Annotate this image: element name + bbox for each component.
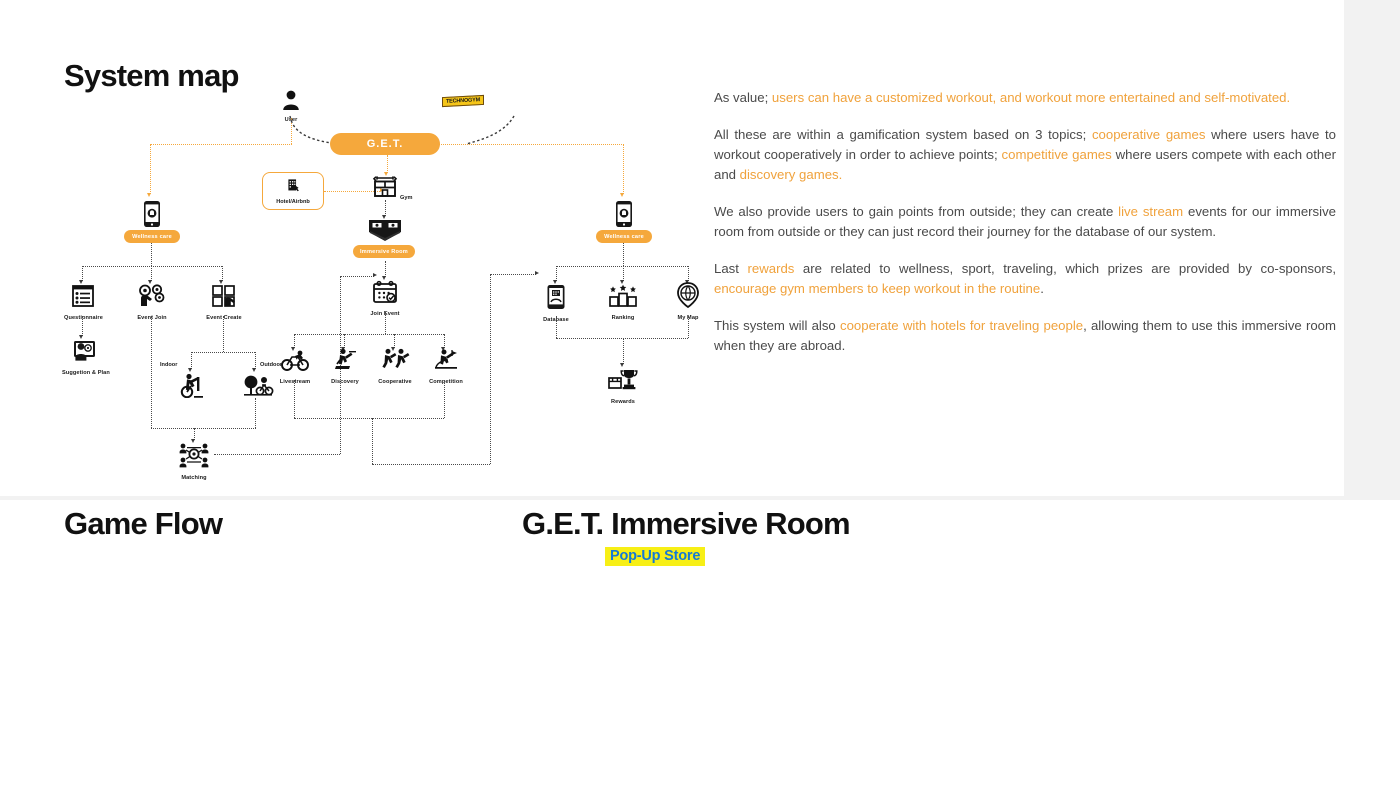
paragraph-livestream: We also provide users to gain points fro… — [714, 202, 1336, 242]
conn-immersive-joinevent — [385, 261, 386, 277]
rewards-trophy-icon — [603, 368, 643, 397]
body-text: are related to wellness, sport, travelin… — [794, 261, 1336, 276]
node-cooperative-label: Cooperative — [375, 379, 415, 385]
event-join-icon — [132, 284, 172, 313]
node-ranking: Ranking — [605, 284, 641, 321]
technogym-logo: TECHNOGYM — [442, 95, 484, 107]
conn-rewards-bus — [556, 338, 688, 339]
arrow-outdoor — [252, 368, 256, 372]
conn-wr-bus — [556, 266, 688, 267]
arrow-wellness-right — [620, 193, 624, 197]
questionnaire-icon — [64, 284, 102, 313]
node-hotel-airbnb: Hotel/Airbnb — [262, 172, 324, 210]
node-suggestion-plan-label: Suggetion & Plan — [62, 370, 104, 376]
phone-wellness-icon — [138, 200, 166, 233]
node-matching-label: Matching — [174, 475, 214, 481]
conn-db-down — [556, 316, 557, 338]
conn-je-b3 — [394, 334, 395, 348]
conn-wr-stem — [623, 243, 624, 266]
system-map-description: As value; users can have a customized wo… — [714, 88, 1336, 356]
node-outdoor-activity — [242, 374, 274, 403]
phone-wellness-icon-right — [610, 200, 638, 233]
outdoor-tree-bike-icon — [242, 374, 274, 403]
conn-je-b4 — [444, 334, 445, 348]
conn-ec-indoor — [191, 352, 192, 369]
conn-je-stem — [385, 312, 386, 334]
node-suggestion-plan: Suggetion & Plan — [62, 339, 104, 376]
node-competition: Competition — [425, 348, 467, 385]
conn-wellness-left-v — [150, 144, 151, 194]
node-user-label: User — [274, 117, 308, 123]
node-event-join: Event Join — [132, 284, 172, 321]
conn-gym-immersive — [385, 200, 386, 216]
node-wellness-left — [138, 200, 166, 233]
conn-q-sp — [82, 316, 83, 336]
node-matching: Matching — [174, 442, 214, 481]
conn-outdoor-matching — [194, 428, 256, 429]
arrow-rewards — [620, 363, 624, 367]
node-discovery-label: Discovery — [326, 379, 364, 385]
highlight-text: live stream — [1118, 204, 1183, 219]
label-indoor: Indoor — [160, 362, 177, 368]
conn-je-b1 — [294, 334, 295, 348]
conn-wr-b2 — [623, 266, 624, 281]
conn-games-bottom — [294, 418, 444, 419]
competition-icon — [425, 348, 467, 377]
event-create-icon — [202, 284, 246, 313]
livestream-bike-icon — [276, 350, 314, 377]
page-title-game-flow: Game Flow — [64, 508, 222, 539]
node-event-create-label: Event Create — [202, 315, 246, 321]
node-competition-label: Competition — [425, 379, 467, 385]
body-text: As value; — [714, 90, 772, 105]
conn-wr-b1 — [556, 266, 557, 281]
node-immersive-room — [364, 218, 406, 247]
conn-loop-database — [490, 274, 536, 275]
discovery-runner-icon — [326, 348, 364, 377]
pill-immersive-room: Immersive Room — [353, 245, 415, 258]
conn-get-gym — [387, 155, 388, 173]
node-user: User — [274, 90, 308, 123]
user-icon — [274, 90, 308, 115]
body-text: We also provide users to gain points fro… — [714, 204, 1118, 219]
paragraph-rewards: Last rewards are related to wellness, sp… — [714, 259, 1336, 299]
body-text: All these are within a gamification syst… — [714, 127, 1092, 142]
node-rewards: Rewards — [603, 368, 643, 405]
my-map-globe-icon — [670, 282, 706, 313]
conn-ls-down — [294, 380, 295, 418]
conn-wr-b3 — [688, 266, 689, 281]
conn-comp-down — [444, 380, 445, 418]
matching-network-icon — [174, 442, 214, 473]
arrow-join-event — [373, 273, 377, 277]
node-cooperative: Cooperative — [375, 348, 415, 385]
conn-map-down — [688, 316, 689, 338]
node-event-create: Event Create — [202, 284, 246, 321]
conn-get-left-h — [150, 144, 292, 145]
node-wellness-right — [610, 200, 638, 233]
page-title-system-map: System map — [64, 60, 239, 91]
database-phone-icon — [538, 284, 574, 315]
highlight-text: competitive games — [1002, 147, 1112, 162]
conn-games-loop-v — [372, 418, 373, 464]
conn-brand-get-curve — [462, 112, 542, 152]
highlight-text: cooperative games — [1092, 127, 1205, 142]
poster-page: System map — [0, 0, 1400, 800]
indoor-bike-icon — [177, 372, 207, 403]
conn-ej-down — [151, 316, 152, 428]
arrow-wellness-left — [147, 193, 151, 197]
conn-wl-b3 — [222, 266, 223, 281]
conn-ec-bus — [191, 352, 255, 353]
conn-wl-b2 — [151, 266, 152, 281]
pill-get: G.E.T. — [330, 133, 440, 155]
system-map-diagram: User TECHNOGYM G.E.T. Hotel/Airbnb — [62, 88, 702, 488]
join-event-calendar-icon — [365, 280, 405, 309]
conn-matching-joinevent-h — [214, 454, 340, 455]
conn-ec-outdoor — [255, 352, 256, 369]
pill-wellness-care-right: Wellness care — [596, 230, 652, 243]
hotel-icon — [285, 176, 302, 193]
node-questionnaire-label: Questionnaire — [64, 315, 102, 321]
node-hotel-label: Hotel/Airbnb — [263, 199, 323, 205]
node-indoor-activity — [177, 372, 207, 403]
system-map-card: System map — [0, 0, 1344, 496]
arrow-database — [535, 271, 539, 275]
conn-wl-b1 — [82, 266, 83, 281]
body-text: Last — [714, 261, 747, 276]
node-gym-label: Gym — [400, 195, 412, 201]
conn-wl-bus — [82, 266, 222, 267]
conn-rewards-stem — [623, 338, 624, 364]
node-ranking-label: Ranking — [605, 315, 641, 321]
body-text: . — [1040, 281, 1044, 296]
popup-store-badge: Pop-Up Store — [605, 547, 705, 566]
conn-je-bus — [294, 334, 444, 335]
node-rewards-label: Rewards — [603, 399, 643, 405]
bottom-section: Game Flow G.E.T. Immersive Room INDOOR O… — [0, 500, 1400, 800]
pill-wellness-care-left: Wellness care — [124, 230, 180, 243]
vr-headset-icon — [364, 218, 406, 247]
cooperative-runners-icon — [375, 348, 415, 377]
paragraph-hotels: This system will also cooperate with hot… — [714, 316, 1336, 356]
node-discovery: Discovery — [326, 348, 364, 385]
node-livestream-label: Livestream — [276, 379, 314, 385]
conn-ec-stem — [223, 316, 224, 352]
conn-games-loop-h — [372, 464, 490, 465]
highlight-text: users can have a customized workout, and… — [772, 90, 1290, 105]
node-questionnaire: Questionnaire — [64, 284, 102, 321]
page-title-immersive-room: G.E.T. Immersive Room — [522, 508, 850, 539]
node-livestream: Livestream — [276, 350, 314, 385]
conn-outdoor-down — [255, 398, 256, 428]
paragraph-value: As value; users can have a customized wo… — [714, 88, 1336, 108]
highlight-text: discovery games. — [740, 167, 843, 182]
highlight-text: encourage gym members to keep workout in… — [714, 281, 1040, 296]
highlight-text: cooperate with hotels for traveling peop… — [840, 318, 1083, 333]
conn-to-joinevent — [340, 276, 374, 277]
conn-wl-stem — [151, 243, 152, 266]
conn-wellness-right-v — [623, 144, 624, 194]
suggestion-plan-icon — [62, 339, 104, 368]
conn-ej-matching — [151, 428, 194, 429]
highlight-text: rewards — [747, 261, 794, 276]
paragraph-gamification: All these are within a gamification syst… — [714, 125, 1336, 185]
ranking-podium-icon — [605, 284, 641, 313]
body-text: This system will also — [714, 318, 840, 333]
conn-loop-up — [490, 274, 491, 464]
conn-je-b2 — [344, 334, 345, 348]
node-event-join-label: Event Join — [132, 315, 172, 321]
